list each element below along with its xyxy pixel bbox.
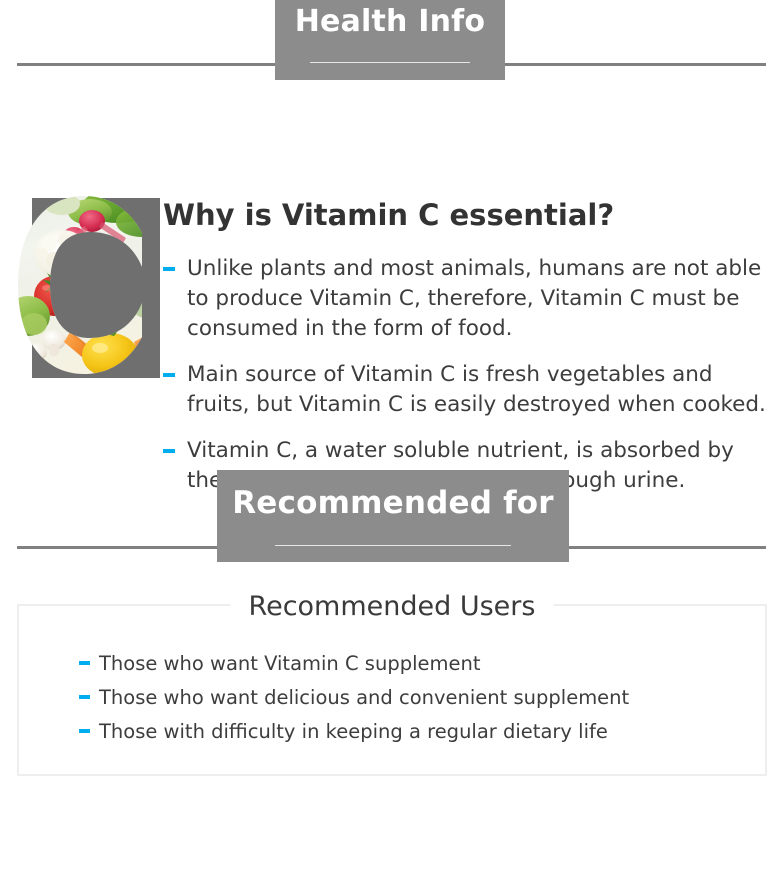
- health-info-banner-title: Health Info: [295, 0, 486, 37]
- vitamin-c-text-body: Why is Vitamin C essential? Unlike plant…: [163, 198, 774, 496]
- dash-bullet-icon: [163, 267, 175, 271]
- recommended-for-banner-tab: Recommended for: [217, 470, 569, 562]
- list-item: Unlike plants and most animals, humans a…: [163, 254, 774, 344]
- dash-bullet-icon: [79, 729, 90, 733]
- dash-bullet-icon: [79, 661, 90, 665]
- banner-tab-underline: [310, 62, 470, 63]
- recommended-for-banner-title: Recommended for: [232, 470, 554, 518]
- page-title: Why is Vitamin C essential?: [163, 198, 774, 232]
- recommended-users-title: Recommended Users: [231, 590, 554, 624]
- recommended-users-section: Recommended Users Those who want Vitamin…: [17, 590, 767, 776]
- list-item: Those who want Vitamin C supplement: [79, 652, 629, 675]
- list-item: Main source of Vitamin C is fresh vegeta…: [163, 360, 774, 420]
- banner-tab-underline: [275, 545, 511, 546]
- health-info-banner-tab: Health Info: [275, 0, 505, 80]
- list-item-text: Those with difficulty in keeping a regul…: [99, 720, 608, 743]
- list-item: Those with difficulty in keeping a regul…: [79, 720, 629, 743]
- recommended-for-banner: Recommended for: [0, 470, 784, 562]
- vitamin-c-letter-logo: [14, 192, 160, 378]
- list-item-text: Those who want Vitamin C supplement: [99, 652, 481, 675]
- dash-bullet-icon: [79, 695, 90, 699]
- list-item-text: Unlike plants and most animals, humans a…: [187, 256, 761, 341]
- health-info-bullet-list: Unlike plants and most animals, humans a…: [163, 254, 774, 496]
- list-item-text: Main source of Vitamin C is fresh vegeta…: [187, 362, 766, 417]
- letter-c-vegetable-icon: [14, 192, 160, 378]
- recommended-users-list: Those who want Vitamin C supplement Thos…: [79, 652, 629, 754]
- list-item-text: Those who want delicious and convenient …: [99, 686, 629, 709]
- dash-bullet-icon: [163, 449, 175, 453]
- list-item: Those who want delicious and convenient …: [79, 686, 629, 709]
- dash-bullet-icon: [163, 373, 175, 377]
- health-info-banner: Health Info: [0, 0, 784, 80]
- vitamin-c-info-block: Why is Vitamin C essential? Unlike plant…: [0, 80, 784, 470]
